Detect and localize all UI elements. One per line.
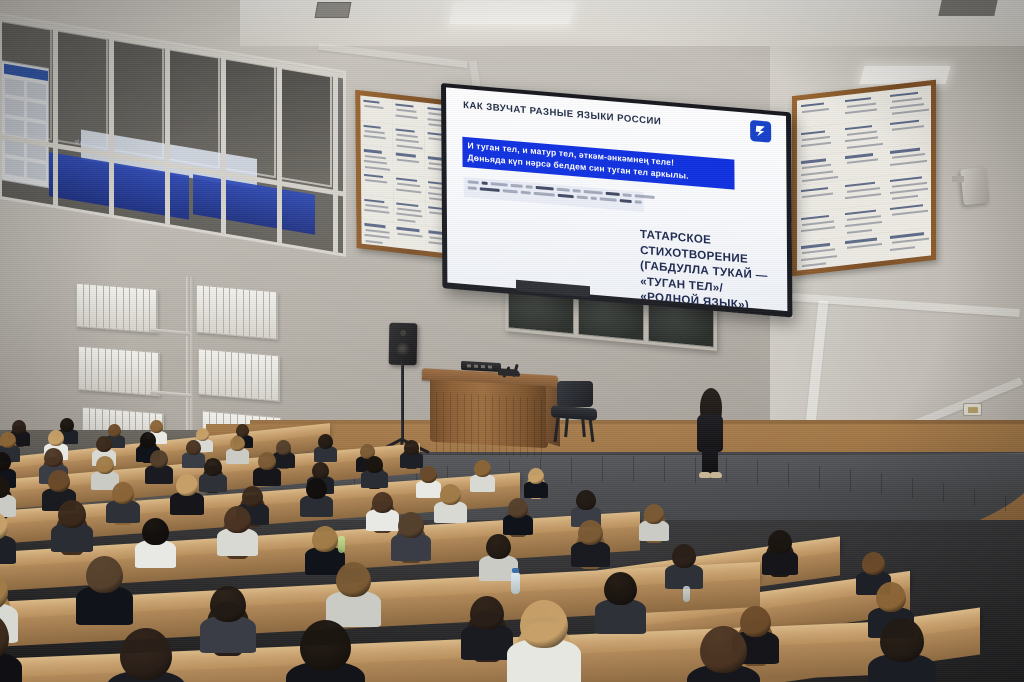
stage-tile-line bbox=[881, 473, 882, 494]
audience-torso bbox=[0, 535, 16, 564]
wooden-podium bbox=[424, 368, 556, 447]
poster-text-line bbox=[845, 209, 876, 215]
poster-text-line bbox=[396, 202, 418, 207]
poster-text-line bbox=[364, 105, 383, 109]
audience-member bbox=[604, 572, 649, 643]
poster-text-line bbox=[847, 159, 878, 165]
radiator bbox=[196, 284, 278, 339]
pa-speaker bbox=[389, 323, 418, 365]
poster-cell bbox=[886, 227, 931, 260]
poster-text-line bbox=[801, 187, 828, 193]
poster-text-line bbox=[396, 109, 416, 113]
audience-head bbox=[876, 582, 906, 612]
presenter-legs bbox=[702, 448, 718, 474]
stage-tile-line bbox=[943, 483, 944, 502]
poster-text-line bbox=[892, 153, 925, 159]
audience-member bbox=[306, 478, 339, 524]
audience-member bbox=[644, 504, 676, 547]
audience-head bbox=[230, 436, 245, 451]
stage-tile-line bbox=[819, 466, 820, 489]
podium-body bbox=[430, 380, 548, 449]
audience-head bbox=[112, 482, 134, 504]
poster-text-line bbox=[892, 125, 924, 131]
slide-title: КАК ЗВУЧАТ РАЗНЫЕ ЯЗЫКИ РОССИИ bbox=[463, 100, 661, 128]
poster-text-line bbox=[365, 229, 389, 234]
water-bottle bbox=[511, 572, 520, 594]
audience-head bbox=[312, 462, 329, 479]
poster-text-line bbox=[892, 182, 927, 188]
glass-mullion-vertical bbox=[277, 62, 282, 243]
chair-leg bbox=[554, 418, 559, 442]
audience-member bbox=[474, 460, 503, 496]
poster-text-line bbox=[363, 124, 381, 129]
audience-member bbox=[230, 436, 257, 468]
poster-text-line bbox=[801, 215, 830, 221]
audience-member bbox=[578, 520, 615, 574]
audience-head bbox=[120, 628, 172, 680]
audience-head bbox=[578, 520, 603, 545]
audience-head bbox=[142, 518, 169, 545]
framed-formula-poster-right bbox=[792, 80, 936, 276]
wall-speaker-bracket bbox=[952, 176, 964, 182]
audience-member bbox=[768, 530, 804, 582]
transliteration-word bbox=[606, 192, 620, 197]
transliteration-word bbox=[468, 180, 479, 184]
poster-text-line bbox=[802, 136, 830, 141]
ceiling-vent bbox=[938, 0, 997, 16]
podium-grain-line bbox=[513, 396, 514, 456]
audience-head bbox=[604, 572, 637, 605]
poster-text-line bbox=[802, 164, 831, 169]
audience-member bbox=[58, 500, 98, 560]
audience-head bbox=[186, 440, 201, 455]
poster-text-line bbox=[847, 187, 880, 193]
poster-text-line bbox=[845, 137, 878, 143]
transliteration-word bbox=[534, 192, 555, 197]
transliteration-word bbox=[511, 184, 523, 188]
poster-text-line bbox=[363, 100, 380, 104]
stage-tile-line bbox=[571, 457, 572, 483]
poster-cell bbox=[393, 173, 425, 201]
podium-grain-line bbox=[443, 392, 444, 452]
projector-screen[interactable]: КАК ЗВУЧАТ РАЗНЫЕ ЯЗЫКИ РОССИИ И туган т… bbox=[441, 83, 792, 318]
stacking-chair bbox=[549, 381, 597, 443]
audience-head bbox=[96, 456, 114, 474]
audience-member bbox=[0, 512, 20, 572]
audience-member bbox=[520, 600, 580, 682]
chair-leg bbox=[581, 417, 585, 437]
poster-text-line bbox=[890, 246, 915, 251]
audience-head bbox=[644, 504, 664, 524]
podium-grain-line bbox=[520, 397, 521, 457]
audience-member bbox=[440, 484, 473, 529]
info-board-cell bbox=[5, 98, 24, 117]
poster-text-line bbox=[397, 232, 422, 237]
podium-grain-line bbox=[499, 396, 500, 456]
audience-head bbox=[880, 618, 924, 662]
poster-text-line bbox=[396, 134, 417, 138]
transliteration-word bbox=[521, 191, 531, 195]
podium-grain-line bbox=[541, 398, 542, 458]
poster-text-line bbox=[845, 125, 872, 131]
audience-head bbox=[700, 626, 747, 673]
speaker-stand-pole bbox=[401, 363, 404, 441]
poster-cell bbox=[393, 148, 425, 176]
poster-text-line bbox=[892, 238, 930, 244]
audience-head bbox=[440, 484, 461, 505]
podium-grain-line bbox=[457, 393, 458, 453]
transliteration-word bbox=[558, 194, 574, 199]
poster-text-line bbox=[395, 139, 419, 144]
audience-head bbox=[312, 526, 338, 552]
transliteration-word bbox=[480, 187, 500, 192]
poster-text-line bbox=[395, 103, 413, 108]
poster-cell bbox=[842, 232, 887, 265]
poster-text-line bbox=[395, 153, 415, 158]
transliteration-word bbox=[491, 182, 508, 186]
ceiling-light bbox=[449, 2, 574, 24]
poster-text-line bbox=[845, 109, 877, 115]
poster-text-line bbox=[364, 223, 385, 228]
audience-head bbox=[576, 490, 596, 510]
audience-head bbox=[862, 552, 885, 575]
poster-text-line bbox=[397, 183, 420, 188]
transliteration-word bbox=[482, 181, 488, 185]
glass-mullion-vertical bbox=[333, 72, 338, 253]
poster-text-line bbox=[845, 238, 877, 244]
presenter-shoe bbox=[710, 472, 722, 478]
stage-tile-line bbox=[974, 489, 975, 506]
audience-head bbox=[210, 586, 246, 622]
chair-leg bbox=[589, 418, 594, 442]
poster-text-line bbox=[890, 91, 918, 97]
info-board-cell bbox=[5, 158, 24, 177]
poster-text-line bbox=[890, 188, 928, 194]
podium-grain-line bbox=[506, 396, 507, 456]
transliteration-word bbox=[584, 190, 603, 195]
poster-text-line bbox=[364, 198, 384, 203]
poster-text-line bbox=[801, 255, 837, 261]
transliteration-word bbox=[503, 189, 518, 193]
transliteration-word bbox=[620, 199, 632, 203]
poster-cell bbox=[392, 99, 424, 127]
audience-head bbox=[224, 506, 251, 533]
audience-head bbox=[404, 440, 419, 455]
audience-head bbox=[486, 534, 511, 559]
stage-tile-line bbox=[850, 469, 851, 492]
audience-member bbox=[120, 628, 184, 682]
blue-z-logo bbox=[750, 120, 771, 143]
poster-text-line bbox=[365, 155, 386, 159]
info-board-cell bbox=[27, 102, 46, 121]
audience-head bbox=[528, 468, 544, 484]
audience-head bbox=[140, 432, 156, 448]
audience-head bbox=[258, 452, 276, 470]
audience-head bbox=[372, 492, 393, 513]
poster-text-line bbox=[802, 262, 826, 267]
poster-text-line bbox=[892, 210, 928, 216]
ceiling-light bbox=[859, 66, 950, 84]
audience-head bbox=[336, 562, 371, 597]
poster-grid bbox=[797, 85, 931, 270]
transliteration-word bbox=[600, 197, 617, 201]
podium-items bbox=[498, 368, 520, 377]
glass-mullion-vertical bbox=[109, 34, 114, 215]
audience-head bbox=[0, 432, 16, 448]
stage-tile-line bbox=[757, 460, 758, 485]
poster-text-line bbox=[890, 148, 920, 154]
poster-cell bbox=[361, 219, 393, 247]
podium-grain-line bbox=[478, 394, 479, 454]
audience-head bbox=[474, 460, 491, 477]
poster-text-line bbox=[397, 219, 415, 223]
info-board-cell bbox=[5, 118, 24, 137]
poster-text-line bbox=[801, 130, 826, 135]
poster-text-line bbox=[847, 131, 877, 136]
transliteration-word bbox=[635, 200, 642, 204]
audience-member bbox=[86, 556, 135, 636]
poster-text-line bbox=[397, 208, 421, 213]
info-board-cell bbox=[27, 82, 46, 101]
poster-text-line bbox=[801, 170, 833, 176]
podium-grain-line bbox=[450, 393, 451, 453]
transliteration-word bbox=[623, 193, 632, 197]
audience-member bbox=[0, 612, 21, 682]
power-socket bbox=[963, 403, 982, 416]
podium-grain-line bbox=[492, 395, 493, 455]
stage-tile-line bbox=[664, 456, 665, 482]
ceiling bbox=[240, 0, 1024, 46]
poster-cell bbox=[361, 194, 393, 222]
poster-cell bbox=[393, 198, 425, 226]
poster-text-line bbox=[845, 97, 870, 102]
stage-tile-line bbox=[912, 478, 913, 498]
audience-head bbox=[176, 474, 198, 496]
screen-bezel: КАК ЗВУЧАТ РАЗНЫЕ ЯЗЫКИ РОССИИ И туган т… bbox=[441, 83, 792, 318]
poster-text-line bbox=[363, 149, 382, 154]
water-bottle bbox=[683, 586, 690, 602]
audience-member bbox=[112, 482, 146, 529]
poster-text-line bbox=[365, 204, 388, 209]
podium-grain-line bbox=[464, 394, 465, 454]
glass-mullion-vertical bbox=[53, 25, 58, 206]
podium-grain-line bbox=[471, 394, 472, 454]
audience-member bbox=[142, 518, 181, 576]
poster-text-line bbox=[365, 240, 382, 244]
transliteration-word bbox=[573, 189, 581, 193]
radiator bbox=[76, 283, 158, 333]
poster-text-line bbox=[363, 135, 385, 140]
glass-mullion-vertical bbox=[221, 53, 226, 234]
transliteration-word bbox=[635, 194, 655, 199]
poster-cell bbox=[393, 124, 425, 152]
presenter-standing bbox=[694, 388, 728, 480]
poster-text-line bbox=[801, 243, 831, 249]
poster-text-line bbox=[396, 227, 419, 232]
poster-text-line bbox=[845, 181, 874, 187]
stage-tile-line bbox=[1005, 495, 1006, 511]
poster-text-line bbox=[802, 192, 832, 197]
info-board-cell bbox=[27, 162, 46, 181]
audience-head bbox=[44, 448, 63, 467]
poster-text-line bbox=[892, 97, 923, 103]
audience-member bbox=[210, 586, 258, 663]
stage-tile-line bbox=[602, 456, 603, 482]
poster-text-line bbox=[892, 195, 918, 200]
poster-text-line bbox=[395, 128, 414, 133]
poster-cell bbox=[361, 170, 393, 198]
poster-text-line bbox=[802, 108, 828, 113]
poster-text-line bbox=[801, 102, 824, 107]
poster-text-line bbox=[802, 249, 835, 255]
poster-text-line bbox=[801, 227, 836, 233]
audience-head bbox=[58, 500, 86, 528]
drink-bottle bbox=[338, 536, 345, 553]
slide-surface: КАК ЗВУЧАТ РАЗНЫЕ ЯЗЫКИ РОССИИ И туган т… bbox=[446, 87, 787, 311]
presenter-torso bbox=[697, 414, 723, 452]
radiator bbox=[198, 348, 280, 401]
audience-member bbox=[880, 618, 936, 682]
ceiling-vent bbox=[315, 2, 352, 18]
transliteration-word bbox=[591, 197, 597, 201]
chair-leg bbox=[564, 417, 568, 437]
podium-grain-line bbox=[436, 392, 437, 452]
transliteration-word bbox=[536, 186, 554, 191]
audience-head bbox=[470, 596, 504, 630]
audience-member bbox=[672, 544, 708, 596]
audience-member bbox=[224, 506, 263, 564]
audience-member bbox=[398, 512, 436, 568]
water-bottle-cap bbox=[512, 568, 519, 573]
poster-text-line bbox=[890, 103, 924, 109]
audience-member bbox=[176, 474, 210, 521]
poster-text-line bbox=[847, 215, 881, 221]
audience-head bbox=[366, 456, 383, 473]
poster-text-line bbox=[396, 188, 422, 193]
glass-mullion-vertical bbox=[165, 44, 170, 225]
transliteration-word bbox=[526, 185, 533, 189]
poster-text-line bbox=[802, 220, 834, 226]
poster-text-line bbox=[364, 130, 384, 134]
poster-text-line bbox=[801, 158, 827, 163]
poster-text-line bbox=[364, 209, 389, 214]
audience-head bbox=[306, 478, 327, 499]
radiator bbox=[78, 346, 160, 396]
stage-tile-line bbox=[633, 456, 634, 482]
audience-head bbox=[520, 600, 568, 648]
audience-head bbox=[242, 486, 263, 507]
transliteration-word bbox=[468, 186, 477, 190]
transliteration-word bbox=[577, 195, 588, 199]
info-board-cell bbox=[27, 122, 46, 141]
audience-torso bbox=[0, 652, 22, 682]
lecture-hall-photo: glass-partition-wall КАК ЗВУЧАТ РАЗНЫЕ Я… bbox=[0, 0, 1024, 682]
poster-text-line bbox=[890, 176, 922, 182]
poster-cell bbox=[361, 120, 393, 148]
poster-text-line bbox=[847, 229, 872, 234]
glass-mullion-vertical bbox=[0, 16, 2, 197]
chair-backrest bbox=[557, 381, 593, 407]
audience-head bbox=[96, 436, 112, 452]
audience-member bbox=[700, 626, 759, 682]
audience-head bbox=[768, 530, 792, 554]
podium-grain-line bbox=[527, 397, 528, 457]
slide-caption: ТАТАРСКОЕ СТИХОТВОРЕНИЕ (ГАБДУЛЛА ТУКАЙ … bbox=[640, 227, 768, 311]
poster-text-line bbox=[365, 179, 387, 183]
poster-text-line bbox=[396, 213, 423, 218]
poster-text-line bbox=[396, 177, 417, 182]
poster-text-line bbox=[364, 234, 390, 239]
audience-head bbox=[48, 470, 70, 492]
info-board-cell bbox=[5, 78, 24, 97]
speaker-tweeter bbox=[400, 330, 406, 336]
audience-head bbox=[300, 620, 351, 671]
poster-text-line bbox=[801, 142, 832, 148]
info-board bbox=[1, 60, 49, 188]
audience-member bbox=[258, 452, 288, 490]
speaker-woofer bbox=[396, 343, 410, 357]
poster-text-line bbox=[890, 160, 927, 166]
poster-text-line bbox=[890, 232, 924, 238]
poster-cell bbox=[360, 95, 392, 123]
poster-text-line bbox=[845, 193, 881, 199]
poster-text-line bbox=[364, 174, 384, 179]
poster-cell bbox=[797, 237, 842, 270]
audience-head bbox=[318, 434, 333, 449]
audience-head bbox=[672, 544, 696, 568]
podium-grain-line bbox=[534, 397, 535, 457]
audience-head bbox=[48, 430, 64, 446]
poster-cell bbox=[393, 223, 425, 251]
audience-member bbox=[300, 620, 363, 682]
poster-text-line bbox=[363, 160, 386, 165]
poster-text-line bbox=[847, 102, 876, 107]
audience-head bbox=[420, 466, 437, 483]
poster-text-line bbox=[397, 158, 419, 163]
audience-member bbox=[366, 456, 395, 493]
poster-text-line bbox=[890, 204, 923, 210]
poster-text-line bbox=[395, 114, 418, 119]
poster-text-line bbox=[845, 221, 882, 227]
poster-text-line bbox=[845, 153, 873, 159]
poster-text-line bbox=[890, 120, 919, 126]
wall-speaker bbox=[960, 167, 990, 206]
audience-head bbox=[398, 512, 424, 538]
audience-head bbox=[150, 450, 168, 468]
glass-pane bbox=[282, 69, 330, 185]
audience-head bbox=[86, 556, 123, 593]
podium-grain-line bbox=[485, 395, 486, 455]
transliteration-block bbox=[464, 177, 644, 212]
audience-head bbox=[508, 498, 528, 518]
transliteration-word bbox=[557, 188, 570, 192]
stage-tile-line bbox=[788, 463, 789, 487]
poster-cell bbox=[361, 145, 393, 173]
poster-text-line bbox=[847, 243, 882, 249]
